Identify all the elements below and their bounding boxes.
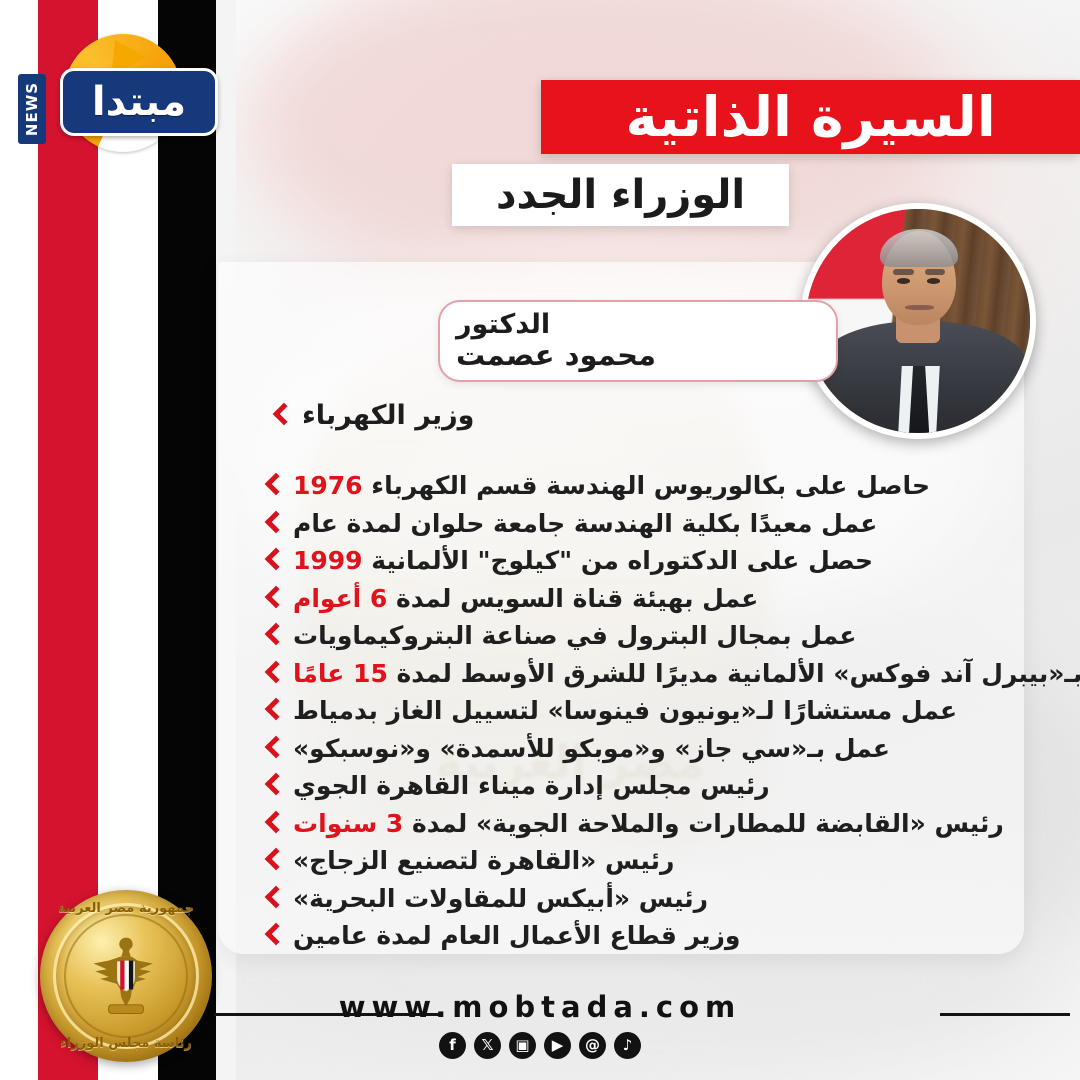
person-name: محمود عصمت (456, 339, 656, 371)
list-item: رئيس «القابضة للمطارات والملاحة الجوية» … (264, 806, 1024, 843)
page-title-banner: السيرة الذاتية (541, 80, 1080, 154)
infographic-canvas: مصر العربية NEWS مبتدا السيرة الذاتية ال… (0, 0, 1080, 1080)
chevron-left-icon (264, 886, 283, 912)
chevron-left-icon (264, 586, 283, 612)
chevron-left-icon (264, 736, 283, 762)
threads-icon[interactable]: @ (579, 1032, 606, 1059)
chevron-left-icon (264, 698, 283, 724)
footer-rule-right (940, 1013, 1070, 1016)
youtube-icon[interactable]: ▶ (544, 1032, 571, 1059)
chevron-left-icon (264, 773, 283, 799)
footer: www.mobtada.com f𝕏▣▶@♪ (0, 976, 1080, 1080)
list-item: رئيس «أبيكس للمقاولات البحرية» (264, 881, 1024, 918)
portrait-brow-left (893, 269, 913, 274)
seal-top-text: جمهورية مصر العربية (40, 901, 212, 916)
list-item-text: حصل على الدكتوراه من "كيلوج" الألمانية 1… (293, 543, 873, 580)
list-item: وزير قطاع الأعمال العام لمدة عامين (264, 918, 1024, 955)
mobtada-logo[interactable]: NEWS مبتدا (12, 22, 218, 172)
list-item-text: رئيس «القاهرة لتصنيع الزجاج» (293, 843, 674, 880)
logo-wordmark: مبتدا (60, 68, 218, 136)
chevron-left-icon (264, 473, 283, 499)
list-item: عمل مستشارًا لـ«يونيون فينوسا» لتسييل ال… (264, 693, 1024, 730)
list-item-highlight: 1976 (293, 471, 363, 500)
list-item-text: عمل بمجال البترول في صناعة البتروكيماويا… (293, 618, 857, 655)
biography-list: حاصل على بكالوريوس الهندسة قسم الكهرباء … (264, 468, 1024, 955)
list-item-text: رئيس «أبيكس للمقاولات البحرية» (293, 881, 708, 918)
list-item: عمل معيدًا بكلية الهندسة جامعة حلوان لمد… (264, 506, 1024, 543)
role-label: وزير الكهرباء (302, 400, 474, 431)
chevron-left-icon (264, 848, 283, 874)
chevron-left-icon (264, 548, 283, 574)
chevron-left-icon (264, 623, 283, 649)
list-item-text: عمل بهيئة قناة السويس لمدة 6 أعوام (293, 581, 758, 618)
portrait-brow-right (925, 269, 945, 274)
list-item: حاصل على بكالوريوس الهندسة قسم الكهرباء … (264, 468, 1024, 505)
list-item-text: عمل معيدًا بكلية الهندسة جامعة حلوان لمد… (293, 506, 877, 543)
instagram-icon[interactable]: ▣ (509, 1032, 536, 1059)
list-item-text: رئيس مجلس إدارة ميناء القاهرة الجوي (293, 768, 770, 805)
list-item-highlight: 3 سنوات (293, 809, 403, 838)
tiktok-icon[interactable]: ♪ (614, 1032, 641, 1059)
page-title: السيرة الذاتية (625, 90, 995, 145)
list-item-text: رئيس «القابضة للمطارات والملاحة الجوية» … (293, 806, 1004, 843)
chevron-left-icon (264, 511, 283, 537)
page-subtitle: الوزراء الجدد (496, 175, 745, 215)
social-links: f𝕏▣▶@♪ (300, 1032, 780, 1059)
news-tab: NEWS (18, 74, 46, 144)
x-twitter-icon[interactable]: 𝕏 (474, 1032, 501, 1059)
name-card: الدكتور محمود عصمت (438, 300, 838, 382)
list-item-text: عمل مستشارًا لـ«يونيون فينوسا» لتسييل ال… (293, 693, 957, 730)
list-item-highlight: 15 عامًا (293, 659, 388, 688)
list-item-text: عمل بـ«سي جاز» و«موبكو للأسمدة» و«نوسبكو… (293, 731, 890, 768)
facebook-icon[interactable]: f (439, 1032, 466, 1059)
website-url[interactable]: www.mobtada.com (300, 990, 780, 1024)
list-item-highlight: 1999 (293, 546, 363, 575)
portrait-mouth (905, 305, 934, 310)
news-label: NEWS (23, 82, 41, 136)
honorific-label: الدكتور (456, 311, 550, 339)
chevron-left-icon (264, 811, 283, 837)
role-row: وزير الكهرباء (272, 400, 1012, 431)
logo-wordmark-label: مبتدا (92, 82, 186, 122)
chevron-left-icon (264, 661, 283, 687)
list-item-text: وزير قطاع الأعمال العام لمدة عامين (293, 918, 740, 955)
page-subtitle-banner: الوزراء الجدد (452, 164, 789, 226)
list-item: عمل بهيئة قناة السويس لمدة 6 أعوام (264, 581, 1024, 618)
list-item-text: عمل بـ«بيبرل آند فوكس» الألمانية مديرًا … (293, 656, 1080, 693)
chevron-left-icon (272, 403, 291, 429)
list-item: رئيس مجلس إدارة ميناء القاهرة الجوي (264, 768, 1024, 805)
list-item: رئيس «القاهرة لتصنيع الزجاج» (264, 843, 1024, 880)
list-item-highlight: 6 أعوام (293, 584, 387, 613)
chevron-left-icon (264, 923, 283, 949)
list-item: عمل بمجال البترول في صناعة البتروكيماويا… (264, 618, 1024, 655)
list-item: عمل بـ«سي جاز» و«موبكو للأسمدة» و«نوسبكو… (264, 731, 1024, 768)
list-item: حصل على الدكتوراه من "كيلوج" الألمانية 1… (264, 543, 1024, 580)
list-item: عمل بـ«بيبرل آند فوكس» الألمانية مديرًا … (264, 656, 1024, 693)
list-item-text: حاصل على بكالوريوس الهندسة قسم الكهرباء … (293, 468, 930, 505)
